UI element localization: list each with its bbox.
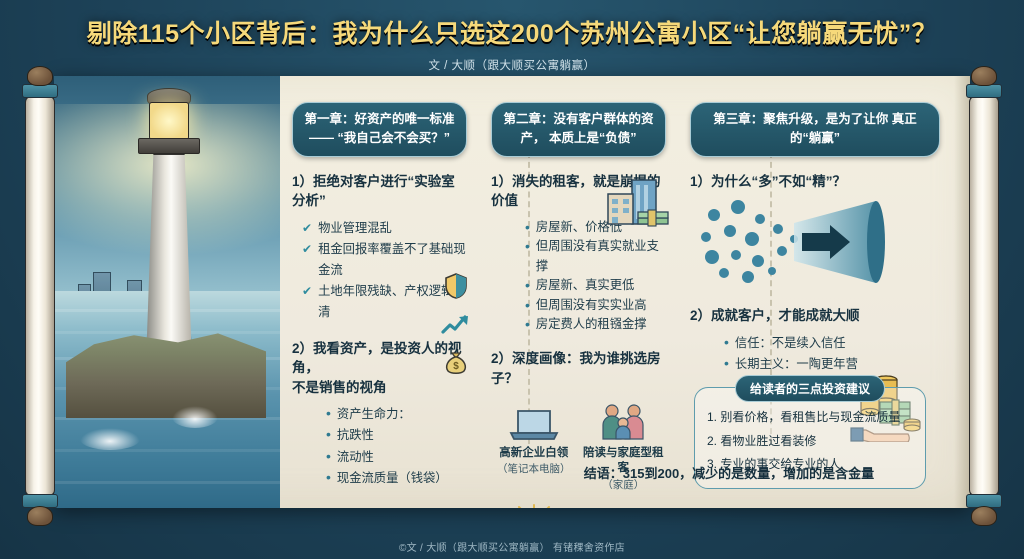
list-item-label: 资产生命力：: [337, 404, 411, 425]
chapter-2-title: 第二章：没有客户群体的资产， 本质上是“负债”: [491, 102, 666, 157]
chapter-3-title: 第三章：聚焦升级，是为了让你 真正的“躺赢”: [690, 102, 940, 157]
family-icon: [581, 397, 667, 443]
list-item: •房屋新、真实更低: [515, 276, 666, 295]
list-item-label: 信任：不是续入信任: [735, 333, 846, 354]
lighthouse-tower: [146, 154, 192, 364]
list-item: •但周围没有真实就业支撑: [515, 237, 666, 276]
rod-band-top: [966, 84, 1002, 98]
persona-label: 高新企业白领: [491, 446, 577, 462]
list-item-label: 但周围没有实实业高: [536, 296, 647, 315]
list-item: •现金流质量（钱袋）: [316, 468, 467, 489]
bullet-icon: •: [525, 315, 530, 334]
chapter-1-question-1: 1）拒绝对客户进行“实验室分析”: [292, 172, 467, 211]
persona-grid: 高新企业白领 （笔记本电脑）: [491, 397, 666, 508]
infographic-canvas: 剔除115个小区背后：我为什么只选这200个苏州公寓小区“让您躺赢无忧”？ 文 …: [0, 0, 1024, 559]
bullet-icon: •: [525, 218, 530, 237]
funnel-diagram: [690, 195, 940, 291]
list-item-label: 长期主义：一陶更年营: [735, 354, 858, 375]
chapter-2-question-2: 2）深度画像：我为谁挑选房子？: [491, 349, 666, 388]
bullet-icon: •: [326, 404, 331, 425]
persona-entrepreneur: 核心区创业者 （灯泡）: [491, 498, 577, 508]
check-icon: ✔: [302, 281, 312, 323]
list-item-label: 物业管理混乱: [318, 218, 392, 239]
list-item: •信任：不是续入信任: [714, 333, 940, 354]
chapter-3-question-1: 1）为什么“多”不如“精”？: [690, 172, 940, 192]
laptop-icon: [491, 397, 577, 443]
bullet-icon: •: [724, 333, 729, 354]
footer-credit: ©文 / 大顺（跟大顺买公寓躺赢） 有锗稞舍资作店: [0, 539, 1024, 554]
persona-industrial-park: 产业园周边的 稳定就业人群 （工厂）: [581, 498, 667, 508]
list-item: •但周围没有实实业高: [515, 296, 666, 315]
chapter-3-question-2: 2）成就客户，才能成就大顺: [690, 306, 940, 326]
list-item: •流动性: [316, 447, 467, 468]
list-item: 2. 看物业胜过看装修: [707, 430, 913, 453]
column-chapter-2: 第二章：没有客户群体的资产， 本质上是“负债” 1）消失的租客，就是崩塌的价值 …: [479, 76, 678, 508]
advice-box-title: 给读者的三点投资建议: [735, 375, 885, 402]
page-title: 剔除115个小区背后：我为什么只选这200个苏州公寓小区“让您躺赢无忧”？: [0, 14, 1024, 50]
growth-chart-icon: [441, 313, 471, 335]
rod-band-top: [22, 84, 58, 98]
scroll-rod-left: [18, 62, 62, 530]
byline: 文 / 大顺（跟大顺买公寓躺赢）: [0, 57, 1024, 73]
lighthouse-gallery: [138, 138, 200, 154]
bullet-icon: •: [525, 296, 530, 315]
rod-tube: [969, 96, 999, 496]
bullet-icon: •: [525, 276, 530, 295]
bullet-icon: •: [326, 468, 331, 489]
lighthouse-lamp: [149, 102, 189, 140]
lightbulb-icon: [491, 498, 577, 508]
check-icon: ✔: [302, 239, 312, 281]
scroll-container: 第一章：好资产的唯一标准—— “我自己会不会买？” 1）拒绝对客户进行“实验室分…: [18, 62, 1006, 530]
scroll-rod-right: [962, 62, 1006, 530]
header: 剔除115个小区背后：我为什么只选这200个苏州公寓小区“让您躺赢无忧”？ 文 …: [0, 0, 1024, 78]
sea-spray: [80, 428, 140, 450]
sea-spray: [172, 406, 218, 428]
shield-icon: [443, 272, 469, 300]
bullet-icon: •: [326, 425, 331, 446]
list-item: •房定费人的租镪金撑: [515, 315, 666, 334]
building-cash-icon: [600, 176, 672, 240]
list-item: ✔物业管理混乱: [292, 218, 467, 239]
list-item-label: 抗跌性: [337, 425, 374, 446]
conclusion-text: 结语：315到200，减少的是数量，增加的是含金量: [528, 463, 930, 482]
rod-knob-bottom: [27, 506, 53, 526]
list-item-label: 房定费人的租镪金撑: [536, 315, 647, 334]
money-bag-icon: $: [443, 348, 469, 375]
list-item: 1. 别看价格，看租售比与现金流质量: [707, 406, 913, 429]
content-columns: 第一章：好资产的唯一标准—— “我自己会不会买？” 1）拒绝对客户进行“实验室分…: [280, 76, 952, 508]
chapter-1-title: 第一章：好资产的唯一标准—— “我自己会不会买？”: [292, 102, 467, 157]
rod-knob-bottom: [971, 506, 997, 526]
svg-text:$: $: [453, 361, 459, 372]
list-item-label: 流动性: [337, 447, 374, 468]
list-item-label: 但周围没有真实就业支撑: [536, 237, 666, 276]
list-item-label: 房屋新、真实更低: [536, 276, 634, 295]
lighthouse-illustration: [54, 76, 280, 508]
column-chapter-3: 第三章：聚焦升级，是为了让你 真正的“躺赢” 1）为什么“多”不如“精”？: [678, 76, 952, 508]
list-item: •资产生命力：: [316, 404, 467, 425]
chapter-1-bullets: •资产生命力： •抗跌性 •流动性 •现金流质量（钱袋）: [292, 404, 467, 489]
chapter-1-icon-stack: $: [441, 272, 471, 375]
scroll-paper: 第一章：好资产的唯一标准—— “我自己会不会买？” 1）拒绝对客户进行“实验室分…: [54, 76, 970, 508]
factory-icon: [581, 498, 667, 508]
list-item-label: 现金流质量（钱袋）: [337, 468, 448, 489]
column-chapter-1: 第一章：好资产的唯一标准—— “我自己会不会买？” 1）拒绝对客户进行“实验室分…: [280, 76, 479, 508]
bullet-icon: •: [525, 237, 530, 276]
check-icon: ✔: [302, 218, 312, 239]
rod-tube: [25, 96, 55, 496]
bullet-icon: •: [724, 354, 729, 375]
bullet-icon: •: [326, 447, 331, 468]
list-item: •抗跌性: [316, 425, 467, 446]
